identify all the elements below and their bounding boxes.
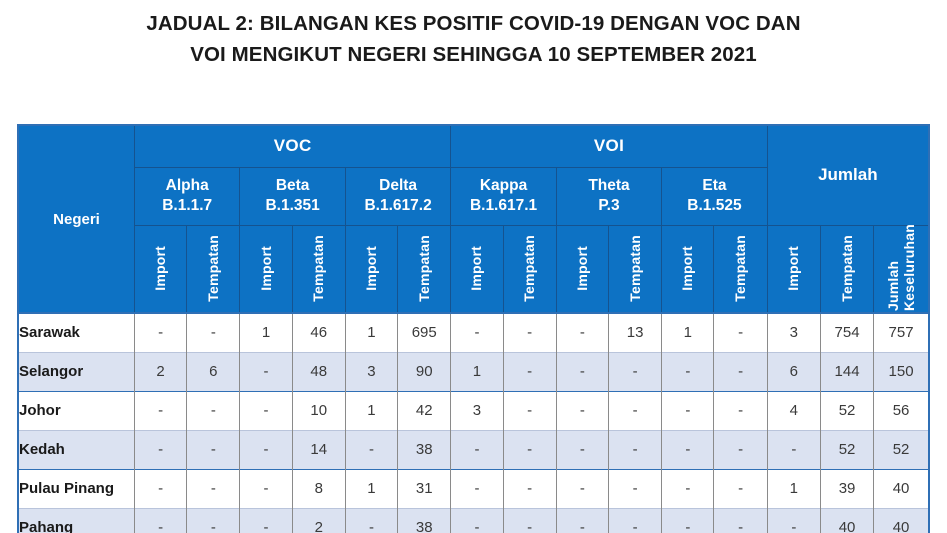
subheader-theta-tempatan: Tempatan	[608, 225, 661, 313]
row-header-state: Pulau Pinang	[18, 469, 134, 508]
table-cell: -	[662, 352, 714, 391]
table-row: Johor---101423-----45256	[18, 391, 929, 430]
table-cell: -	[662, 391, 714, 430]
column-header-variant-delta: Delta B.1.617.2	[345, 167, 450, 225]
table-row: Pahang---2-38-------4040	[18, 508, 929, 533]
table-cell: -	[714, 508, 767, 533]
table-cell: -	[187, 313, 240, 352]
column-group-voi: VOI	[451, 125, 767, 167]
column-header-negeri: Negeri	[18, 125, 134, 313]
table-cell: 46	[292, 313, 345, 352]
subheader-eta-import: Import	[662, 225, 714, 313]
table-row: Sarawak--1461695---131-3754757	[18, 313, 929, 352]
subheader-jumlah-import: Import	[767, 225, 820, 313]
table-cell: -	[187, 391, 240, 430]
column-header-variant-beta: Beta B.1.351	[240, 167, 345, 225]
row-header-state: Kedah	[18, 430, 134, 469]
table-cell: 2	[134, 352, 186, 391]
table-cell: -	[451, 469, 503, 508]
page-root: JADUAL 2: BILANGAN KES POSITIF COVID-19 …	[0, 0, 947, 533]
table-cell: 1	[662, 313, 714, 352]
column-header-variant-alpha: Alpha B.1.1.7	[134, 167, 239, 225]
subheader-label: Import	[364, 246, 379, 291]
subheader-alpha-tempatan: Tempatan	[187, 225, 240, 313]
table-cell: -	[608, 469, 661, 508]
table-cell: 8	[292, 469, 345, 508]
table-cell: -	[345, 508, 397, 533]
column-header-variant-eta: Eta B.1.525	[662, 167, 768, 225]
table-cell: 1	[345, 313, 397, 352]
table-cell: 39	[820, 469, 873, 508]
table-head: Negeri VOC VOI Jumlah Alpha B.1.1.7 Beta…	[18, 125, 929, 313]
subheader-beta-tempatan: Tempatan	[292, 225, 345, 313]
table-cell: 695	[398, 313, 451, 352]
subheader-label: Tempatan	[733, 235, 748, 302]
variant-code-eta: B.1.525	[662, 196, 767, 216]
header-row-groups: Negeri VOC VOI Jumlah	[18, 125, 929, 167]
table-cell: -	[240, 469, 292, 508]
subheader-label: Import	[575, 246, 590, 291]
subheader-label: Import	[786, 246, 801, 291]
table-cell: 2	[292, 508, 345, 533]
table-cell: -	[187, 508, 240, 533]
page-title-line-1: JADUAL 2: BILANGAN KES POSITIF COVID-19 …	[0, 8, 947, 39]
subheader-kappa-tempatan: Tempatan	[503, 225, 556, 313]
table-cell: -	[187, 430, 240, 469]
table-cell: 38	[398, 508, 451, 533]
table-row: Kedah---14-38-------5252	[18, 430, 929, 469]
table-cell: 1	[345, 391, 397, 430]
table-cell: 1	[240, 313, 292, 352]
page-title-line-2: VOI MENGIKUT NEGERI SEHINGGA 10 SEPTEMBE…	[0, 39, 947, 70]
variant-name-eta: Eta	[662, 176, 767, 196]
column-header-variant-theta: Theta P.3	[556, 167, 661, 225]
table-row: Pulau Pinang---8131------13940	[18, 469, 929, 508]
table-cell: 3	[451, 391, 503, 430]
variant-code-delta: B.1.617.2	[346, 196, 450, 216]
variant-name-theta: Theta	[557, 176, 661, 196]
table-cell: 42	[398, 391, 451, 430]
table-cell: 52	[820, 391, 873, 430]
table-cell: -	[134, 391, 186, 430]
table-cell: -	[556, 391, 608, 430]
variant-code-alpha: B.1.1.7	[135, 196, 239, 216]
row-header-state: Selangor	[18, 352, 134, 391]
column-group-voc: VOC	[134, 125, 450, 167]
subheader-label: Import	[153, 246, 168, 291]
table-cell: -	[134, 508, 186, 533]
table-cell: 1	[451, 352, 503, 391]
table-cell: 3	[345, 352, 397, 391]
subheader-delta-import: Import	[345, 225, 397, 313]
table-cell: -	[240, 508, 292, 533]
subheader-eta-tempatan: Tempatan	[714, 225, 767, 313]
table-cell: -	[451, 313, 503, 352]
table-cell: 56	[874, 391, 929, 430]
table-cell: -	[767, 508, 820, 533]
table-cell: -	[714, 391, 767, 430]
variant-name-kappa: Kappa	[451, 176, 555, 196]
subheader-label: Import	[680, 246, 695, 291]
table-cell: -	[503, 430, 556, 469]
table-cell: -	[662, 469, 714, 508]
table-cell: -	[662, 508, 714, 533]
table-cell: -	[451, 508, 503, 533]
table-cell: 6	[767, 352, 820, 391]
table-cell: -	[608, 430, 661, 469]
subheader-label: Tempatan	[417, 235, 432, 302]
header-row-subheaders: Import Tempatan Import Tempatan Import T…	[18, 225, 929, 313]
subheader-theta-import: Import	[556, 225, 608, 313]
table-cell: -	[503, 508, 556, 533]
subheader-label: Jumlah Keseluruhan	[885, 227, 917, 311]
table-cell: -	[714, 469, 767, 508]
table-cell: -	[503, 469, 556, 508]
variant-code-beta: B.1.351	[240, 196, 344, 216]
table-cell: 52	[874, 430, 929, 469]
table-cell: -	[556, 469, 608, 508]
page-title: JADUAL 2: BILANGAN KES POSITIF COVID-19 …	[0, 8, 947, 70]
table-cell: 48	[292, 352, 345, 391]
table-cell: -	[503, 352, 556, 391]
table-cell: 6	[187, 352, 240, 391]
subheader-kappa-import: Import	[451, 225, 503, 313]
table-cell: -	[662, 430, 714, 469]
row-header-state: Sarawak	[18, 313, 134, 352]
variant-code-theta: P.3	[557, 196, 661, 216]
table-cell: 4	[767, 391, 820, 430]
table-cell: -	[240, 430, 292, 469]
table-cell: -	[240, 391, 292, 430]
table-container: Negeri VOC VOI Jumlah Alpha B.1.1.7 Beta…	[17, 124, 930, 533]
variant-name-beta: Beta	[240, 176, 344, 196]
subheader-label: Tempatan	[840, 235, 855, 302]
table-cell: -	[714, 430, 767, 469]
table-cell: 144	[820, 352, 873, 391]
subheader-label: Import	[259, 246, 274, 291]
table-cell: -	[608, 352, 661, 391]
table-cell: 10	[292, 391, 345, 430]
table-cell: -	[714, 352, 767, 391]
table-cell: 38	[398, 430, 451, 469]
row-header-state: Pahang	[18, 508, 134, 533]
table-cell: 150	[874, 352, 929, 391]
table-cell: 1	[345, 469, 397, 508]
subheader-label: Tempatan	[206, 235, 221, 302]
column-group-jumlah: Jumlah	[767, 125, 929, 225]
table-cell: 40	[874, 508, 929, 533]
table-cell: -	[503, 391, 556, 430]
table-cell: -	[556, 508, 608, 533]
table-cell: -	[134, 469, 186, 508]
table-cell: 90	[398, 352, 451, 391]
table-cell: 757	[874, 313, 929, 352]
table-cell: -	[556, 430, 608, 469]
table-row: Selangor26-483901-----6144150	[18, 352, 929, 391]
table-cell: 40	[820, 508, 873, 533]
column-header-variant-kappa: Kappa B.1.617.1	[451, 167, 556, 225]
table-cell: 13	[608, 313, 661, 352]
subheader-label: Tempatan	[522, 235, 537, 302]
table-body: Sarawak--1461695---131-3754757Selangor26…	[18, 313, 929, 533]
table-cell: -	[240, 352, 292, 391]
table-cell: -	[503, 313, 556, 352]
table-cell: -	[556, 313, 608, 352]
table-cell: -	[608, 391, 661, 430]
table-cell: 14	[292, 430, 345, 469]
variant-code-kappa: B.1.617.1	[451, 196, 555, 216]
table-cell: 1	[767, 469, 820, 508]
table-cell: -	[345, 430, 397, 469]
subheader-label: Tempatan	[311, 235, 326, 302]
covid-variant-table: Negeri VOC VOI Jumlah Alpha B.1.1.7 Beta…	[17, 124, 930, 533]
table-cell: -	[608, 508, 661, 533]
subheader-delta-tempatan: Tempatan	[398, 225, 451, 313]
subheader-jumlah-tempatan: Tempatan	[820, 225, 873, 313]
row-header-state: Johor	[18, 391, 134, 430]
subheader-beta-import: Import	[240, 225, 292, 313]
table-cell: -	[134, 430, 186, 469]
table-cell: 40	[874, 469, 929, 508]
table-cell: 31	[398, 469, 451, 508]
table-cell: -	[451, 430, 503, 469]
subheader-label: Import	[469, 246, 484, 291]
table-cell: -	[134, 313, 186, 352]
variant-name-alpha: Alpha	[135, 176, 239, 196]
variant-name-delta: Delta	[346, 176, 450, 196]
table-cell: 754	[820, 313, 873, 352]
table-cell: -	[714, 313, 767, 352]
subheader-jumlah-keseluruhan: Jumlah Keseluruhan	[874, 225, 929, 313]
table-cell: -	[767, 430, 820, 469]
table-cell: 3	[767, 313, 820, 352]
table-cell: -	[187, 469, 240, 508]
subheader-label: Tempatan	[628, 235, 643, 302]
subheader-alpha-import: Import	[134, 225, 186, 313]
table-cell: 52	[820, 430, 873, 469]
table-cell: -	[556, 352, 608, 391]
